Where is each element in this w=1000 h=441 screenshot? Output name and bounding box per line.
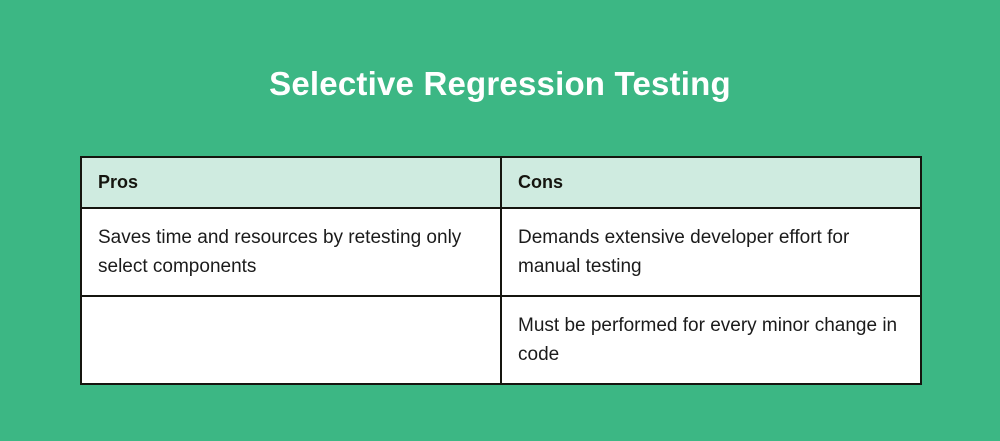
cell-pros-1: Saves time and resources by retesting on… (81, 208, 501, 296)
table-row: Must be performed for every minor change… (81, 296, 921, 384)
cell-cons-2: Must be performed for every minor change… (501, 296, 921, 384)
slide-canvas: Selective Regression Testing Pros Cons S… (0, 0, 1000, 441)
table-header-row: Pros Cons (81, 157, 921, 208)
pros-cons-table: Pros Cons Saves time and resources by re… (80, 156, 922, 385)
table-header: Pros Cons (81, 157, 921, 208)
page-title: Selective Regression Testing (0, 62, 1000, 106)
cell-pros-2 (81, 296, 501, 384)
column-header-cons: Cons (501, 157, 921, 208)
cell-cons-1: Demands extensive developer effort for m… (501, 208, 921, 296)
table-body: Saves time and resources by retesting on… (81, 208, 921, 384)
table-row: Saves time and resources by retesting on… (81, 208, 921, 296)
column-header-pros: Pros (81, 157, 501, 208)
